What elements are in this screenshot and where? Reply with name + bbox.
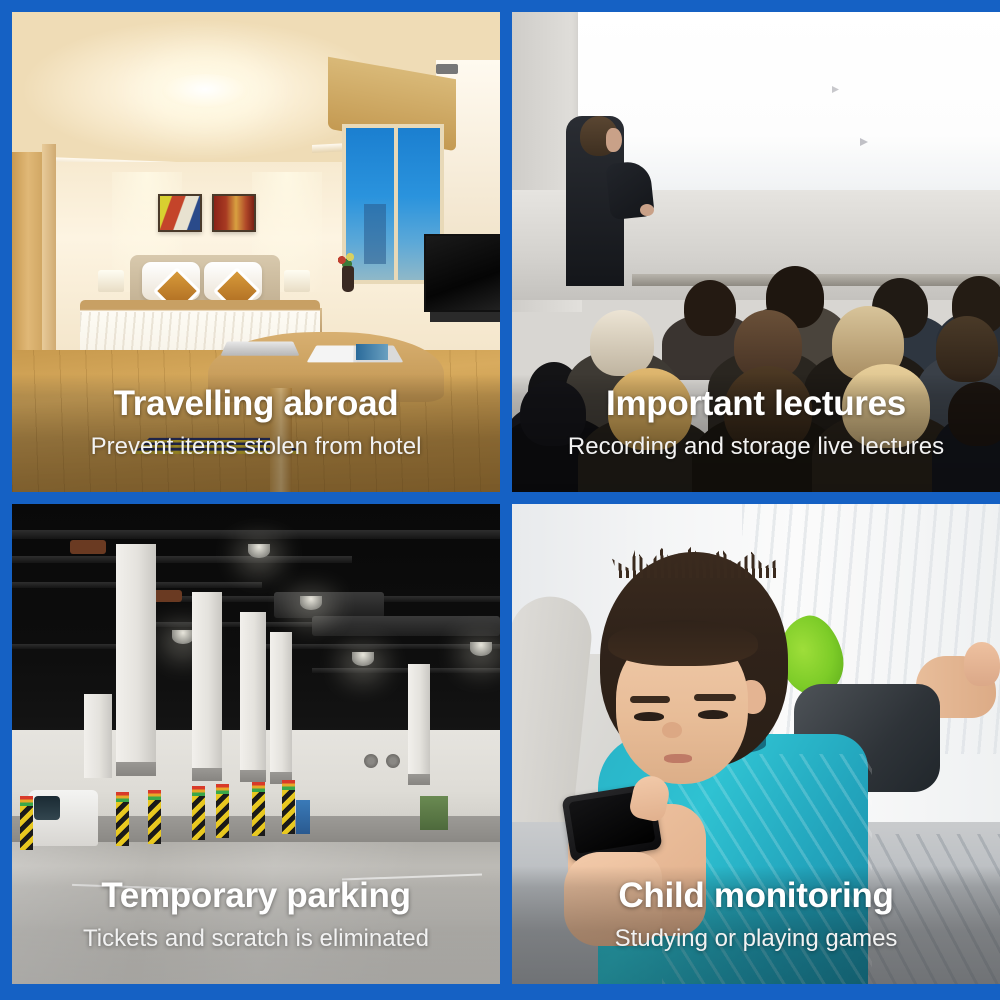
panel-temporary-parking[interactable]: Temporary parking Tickets and scratch is… <box>12 504 500 984</box>
caption-important-lectures: Important lectures Recording and storage… <box>512 374 1000 492</box>
panel-title: Temporary parking <box>101 874 410 918</box>
caption-travelling-abroad: Travelling abroad Prevent items stolen f… <box>12 374 500 492</box>
television <box>424 234 500 312</box>
wall-art-right <box>212 194 256 232</box>
open-magazine <box>307 345 404 362</box>
use-case-grid: Travelling abroad Prevent items stolen f… <box>0 0 1000 1000</box>
panel-subtitle: Studying or playing games <box>615 922 898 956</box>
panel-subtitle: Prevent items stolen from hotel <box>91 430 422 464</box>
projection-screen <box>578 12 1000 190</box>
service-door <box>420 796 448 830</box>
ceiling-light-icon <box>162 74 248 108</box>
caption-child-monitoring: Child monitoring Studying or playing gam… <box>512 866 1000 984</box>
caption-temporary-parking: Temporary parking Tickets and scratch is… <box>12 866 500 984</box>
panel-title: Child monitoring <box>618 874 893 918</box>
panel-child-monitoring[interactable]: Child monitoring Studying or playing gam… <box>512 504 1000 984</box>
panel-title: Travelling abroad <box>114 382 399 426</box>
panel-subtitle: Tickets and scratch is eliminated <box>83 922 429 956</box>
wall-art-left <box>158 194 202 232</box>
panel-title: Important lectures <box>606 382 906 426</box>
panel-travelling-abroad[interactable]: Travelling abroad Prevent items stolen f… <box>12 12 500 492</box>
panel-important-lectures[interactable]: Important lectures Recording and storage… <box>512 12 1000 492</box>
laptop <box>221 342 300 356</box>
panel-subtitle: Recording and storage live lectures <box>568 430 944 464</box>
